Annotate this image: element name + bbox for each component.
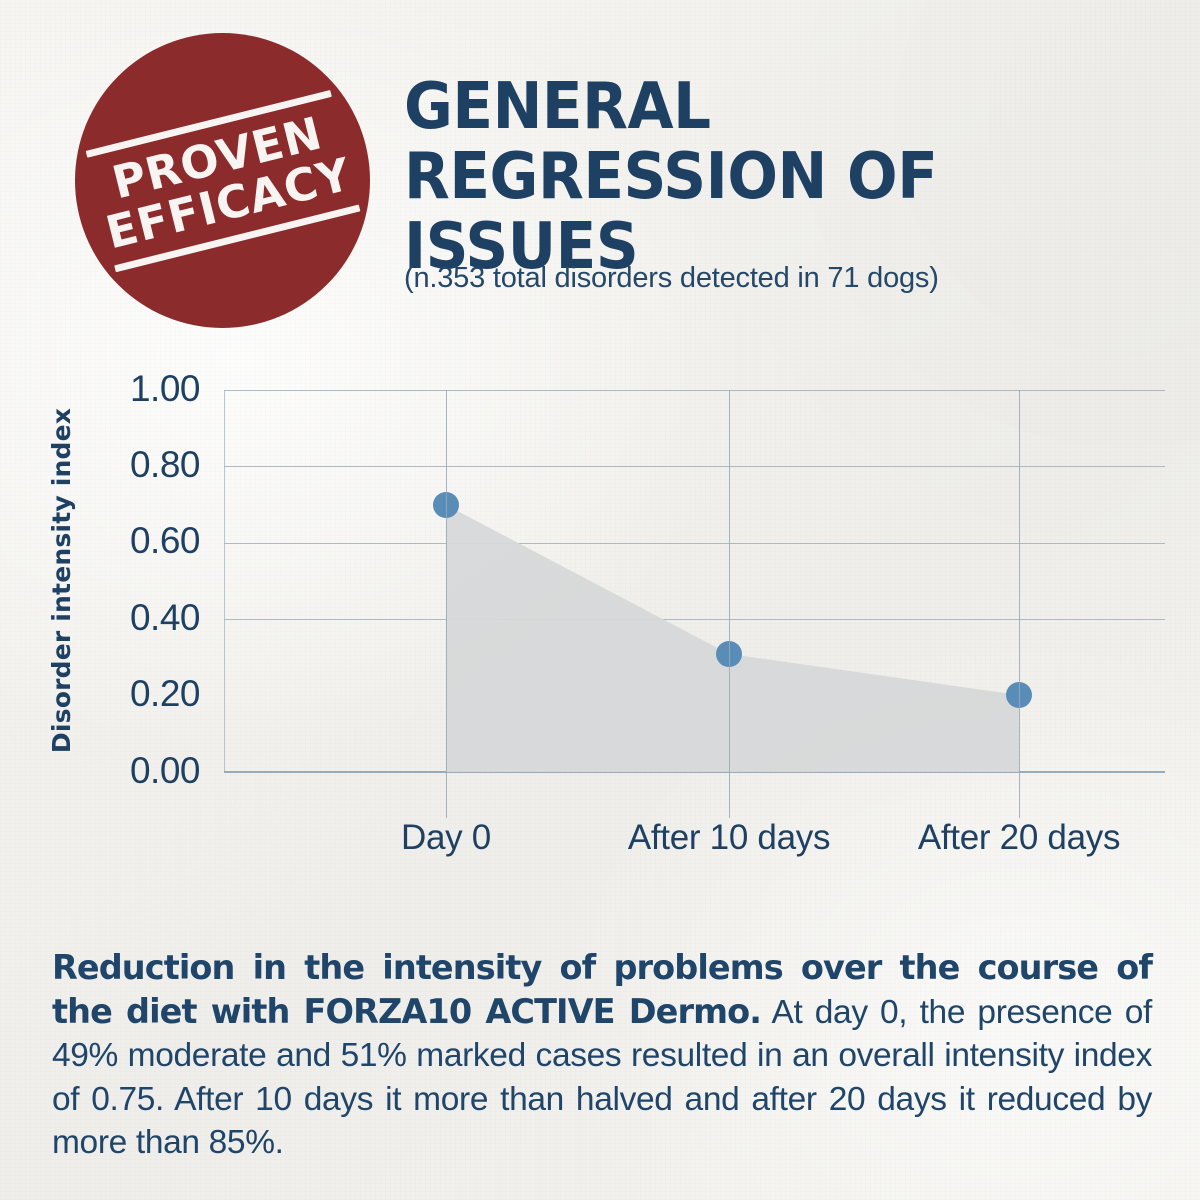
y-tick-label: 1.00 [80,368,200,410]
footer-paragraph: Reduction in the intensity of problems o… [52,946,1152,1164]
dropline-after-20-days [1019,390,1020,818]
y-tick-label: 0.80 [80,444,200,486]
dropline-after-10-days [729,390,730,818]
y-tick-label: 0.20 [80,673,200,715]
x-tick-label-day-0: Day 0 [321,818,571,859]
y-axis-title: Disorder intensity index [47,378,77,783]
x-tick-label-after-20-days: After 20 days [894,818,1144,859]
x-tick-label-after-10-days: After 10 days [604,818,854,859]
y-tick-label: 0.60 [80,520,200,562]
y-tick-label: 0.00 [80,750,200,792]
y-tick-label: 0.40 [80,597,200,639]
drop-lines [224,390,1165,818]
dropline-day-0 [446,390,447,818]
